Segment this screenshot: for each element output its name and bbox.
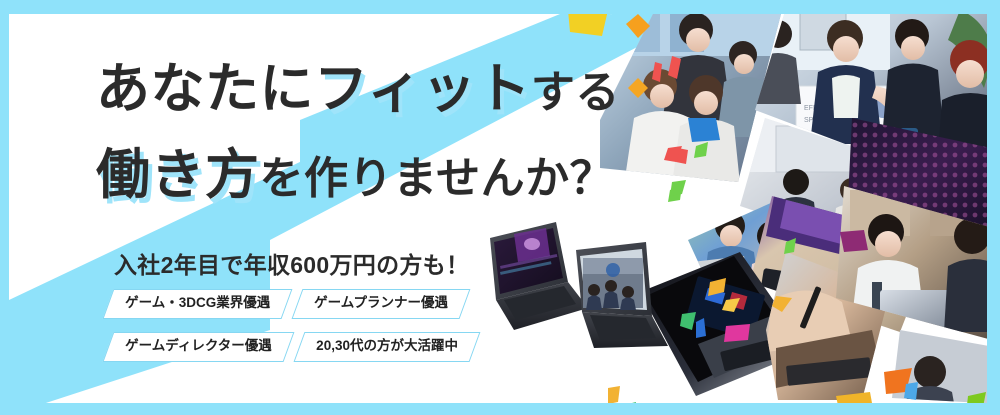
headline-seg-3: する [531, 68, 620, 117]
tag-game-director: ゲームディレクター優遇 [103, 332, 294, 362]
headline-seg-5: 方 [205, 145, 260, 205]
headline-seg-4: 働き [96, 145, 205, 205]
headline-seg-2: フィット [314, 59, 531, 119]
headline-seg-6: を作りませんか？ [260, 154, 615, 203]
tag-row-2: ゲームディレクター優遇 20,30代の方が大活躍中 [108, 332, 474, 362]
headline-line-1: あなたにフィットする [96, 48, 576, 134]
tag-game-planner: ゲームプランナー優遇 [292, 289, 471, 319]
frame-right-bar [987, 0, 1000, 415]
tag-label: ゲーム・3DCG業界優遇 [125, 295, 270, 312]
headline-block: あなたにフィットする 働き方を作りませんか？ [96, 48, 576, 220]
tag-label: 20,30代の方が大活躍中 [316, 338, 458, 355]
subtitle-text: 入社2年目で年収600万円の方も！ [114, 246, 469, 280]
frame-bottom-bar [0, 403, 1000, 415]
tag-game-3dcg: ゲーム・3DCG業界優遇 [103, 289, 293, 319]
tag-age-2030: 20,30代の方が大活躍中 [293, 332, 480, 362]
tag-label: ゲームディレクター優遇 [125, 338, 272, 355]
headline-seg-1: あなたに [96, 59, 314, 119]
tag-label: ゲームプランナー優遇 [314, 295, 448, 312]
frame-top-bar [0, 0, 1000, 14]
tag-row-1: ゲーム・3DCG業界優遇 ゲームプランナー優遇 [108, 289, 465, 319]
confetti-green-chip [670, 180, 686, 196]
confetti-orange-diamond [626, 14, 650, 38]
confetti-red-sliver [668, 56, 681, 79]
headline-line-2: 働き方を作りませんか？ [96, 134, 576, 220]
hero-banner: EFFECT DESIGN SPECIALISTS [0, 0, 1000, 415]
confetti-red-chip [664, 146, 682, 162]
frame-left-bar [0, 0, 9, 415]
